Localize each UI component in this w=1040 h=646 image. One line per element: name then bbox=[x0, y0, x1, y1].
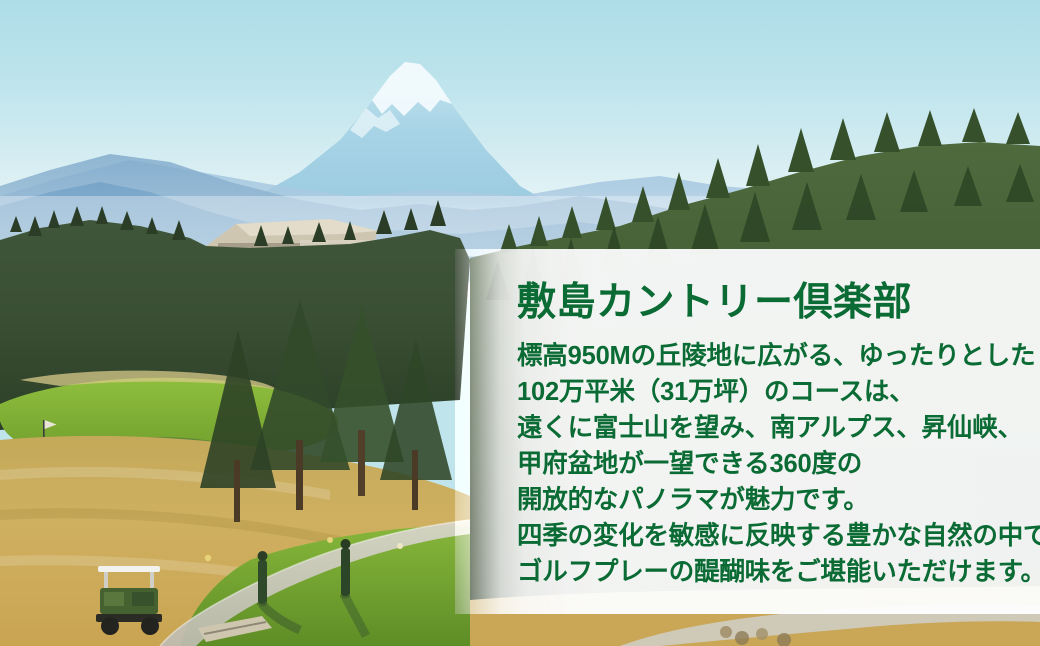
golf-course-hero-banner: 敷島カントリー倶楽部 標高950Mの丘陵地に広がる、ゆったりとした 102万平米… bbox=[0, 0, 1040, 646]
page-title: 敷島カントリー倶楽部 bbox=[517, 282, 1032, 323]
description-line: 甲府盆地が一望できる360度の bbox=[517, 446, 1032, 482]
description-line: ゴルフプレーの醍醐味をご堪能いただけます。 bbox=[517, 554, 1032, 590]
description-line: 標高950Mの丘陵地に広がる、ゆったりとした bbox=[517, 338, 1032, 374]
panel-content: 敷島カントリー倶楽部 標高950Mの丘陵地に広がる、ゆったりとした 102万平米… bbox=[517, 282, 1032, 590]
description-line: 開放的なパノラマが魅力です。 bbox=[517, 482, 1032, 518]
text-overlay-panel: 敷島カントリー倶楽部 標高950Mの丘陵地に広がる、ゆったりとした 102万平米… bbox=[455, 249, 1040, 614]
description-line: 遠くに富士山を望み、南アルプス、昇仙峡、 bbox=[517, 410, 1032, 446]
description-text: 標高950Mの丘陵地に広がる、ゆったりとした 102万平米（31万坪）のコースは… bbox=[517, 338, 1032, 590]
description-line: 四季の変化を敏感に反映する豊かな自然の中で bbox=[517, 518, 1032, 554]
description-line: 102万平米（31万坪）のコースは、 bbox=[517, 374, 1032, 410]
